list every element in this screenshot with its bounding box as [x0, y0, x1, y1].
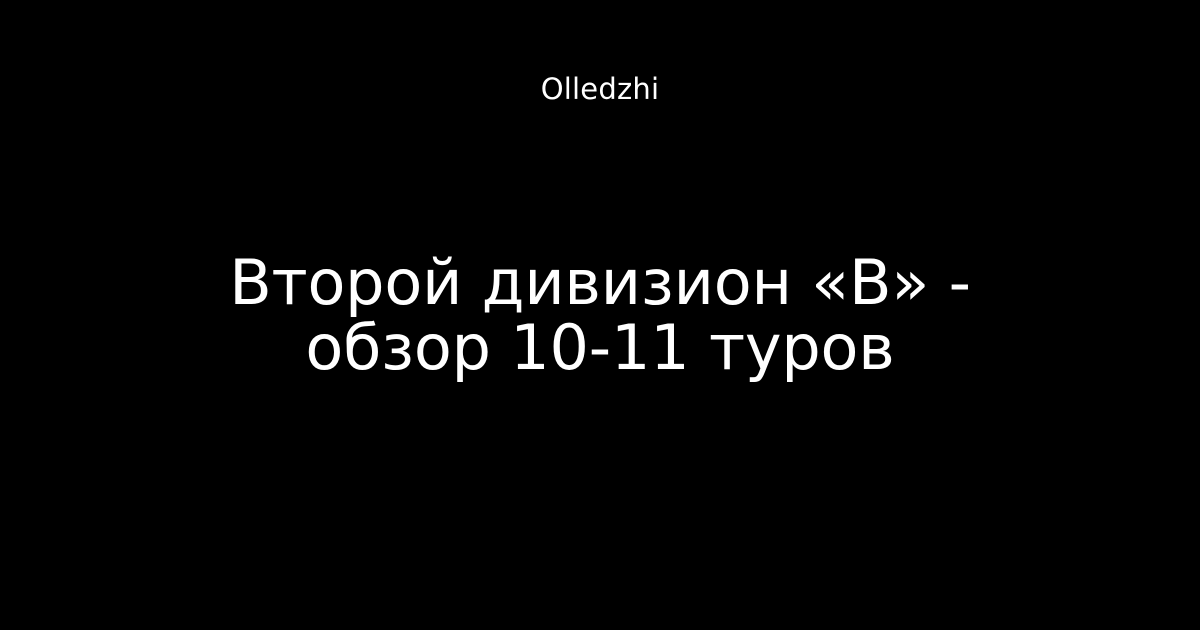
headline-block: Второй дивизион «В» - обзор 10-11 туров [0, 0, 1200, 630]
open-graph-preview-card: Olledzhi Второй дивизион «В» - обзор 10-… [0, 0, 1200, 630]
article-headline: Второй дивизион «В» - обзор 10-11 туров [140, 250, 1060, 380]
